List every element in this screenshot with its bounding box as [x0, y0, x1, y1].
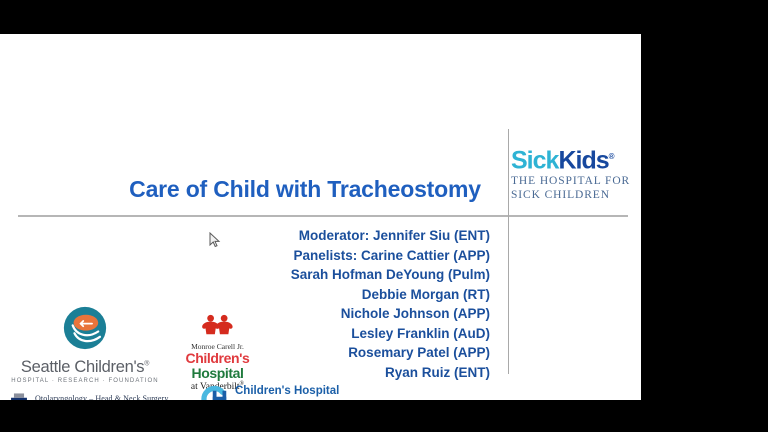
registered-trademark-icon: ®: [144, 361, 149, 368]
vanderbilt-word-hospital: Hospital: [191, 365, 243, 381]
uoft-crest-icon: [8, 392, 30, 400]
vanderbilt-childrens-hospital-wordmark: Children's Hospital: [160, 351, 275, 381]
uoft-department-line: Otolaryngology – Head & Neck Surgery: [35, 394, 199, 400]
seattle-childrens-subtitle: HOSPITAL · RESEARCH · FOUNDATION: [10, 378, 160, 384]
chop-wordmark: Children's Hospital of Philadelphia®: [235, 385, 339, 400]
presentation-slide: Care of Child with Tracheostomy Moderato…: [0, 34, 641, 400]
sickkids-word-kids: Kids: [558, 146, 608, 174]
vanderbilt-figures-icon: [192, 314, 243, 336]
list-item: Rosemary Patel (APP): [250, 343, 490, 363]
panelist-list: Moderator: Jennifer Siu (ENT) Panelists:…: [250, 226, 490, 382]
sickkids-word-sick: Sick: [511, 146, 558, 174]
list-item: Lesley Franklin (AuD): [250, 324, 490, 344]
vertical-divider: [508, 129, 509, 374]
seattle-childrens-name: Seattle Children's®: [10, 358, 160, 377]
vanderbilt-word-childrens: Children's: [186, 350, 250, 366]
list-item: Nichole Johnson (APP): [250, 304, 490, 324]
chop-monogram-icon: [200, 384, 230, 400]
list-item: Sarah Hofman DeYoung (Pulm): [250, 265, 490, 285]
chop-line1: Children's Hospital: [235, 385, 339, 398]
list-item: Moderator: Jennifer Siu (ENT): [250, 226, 490, 246]
list-item: Panelists: Carine Cattier (APP): [250, 246, 490, 266]
seattle-childrens-logo: Seattle Children's® HOSPITAL · RESEARCH …: [10, 306, 160, 384]
sickkids-tagline: THE HOSPITAL FOR SICK CHILDREN: [511, 175, 636, 202]
seattle-childrens-name-text: Seattle Children's: [21, 358, 144, 376]
university-of-toronto-logo: Otolaryngology – Head & Neck Surgery UNI…: [8, 392, 199, 400]
list-item: Debbie Morgan (RT): [250, 285, 490, 305]
vanderbilt-childrens-logo: Monroe Carell Jr. Children's Hospital at…: [160, 314, 275, 392]
mouse-cursor-icon: [209, 232, 221, 248]
sickkids-logo: SickKids® THE HOSPITAL FOR SICK CHILDREN: [511, 144, 636, 202]
horizontal-divider: [18, 215, 628, 217]
chop-line2: of Philadelphia®: [235, 398, 339, 400]
chop-logo: Children's Hospital of Philadelphia®: [200, 384, 339, 400]
registered-trademark-icon: ®: [609, 152, 614, 161]
sickkids-tagline-line2: SICK CHILDREN: [511, 189, 636, 203]
seattle-childrens-mark-icon: [63, 306, 107, 350]
sickkids-tagline-line1: THE HOSPITAL FOR: [511, 175, 636, 189]
list-item: Ryan Ruiz (ENT): [250, 363, 490, 383]
page-title: Care of Child with Tracheostomy: [110, 176, 500, 203]
sickkids-wordmark: SickKids®: [511, 144, 636, 173]
uoft-wordmark: Otolaryngology – Head & Neck Surgery UNI…: [35, 394, 199, 400]
video-player-stage: Care of Child with Tracheostomy Moderato…: [0, 0, 768, 432]
